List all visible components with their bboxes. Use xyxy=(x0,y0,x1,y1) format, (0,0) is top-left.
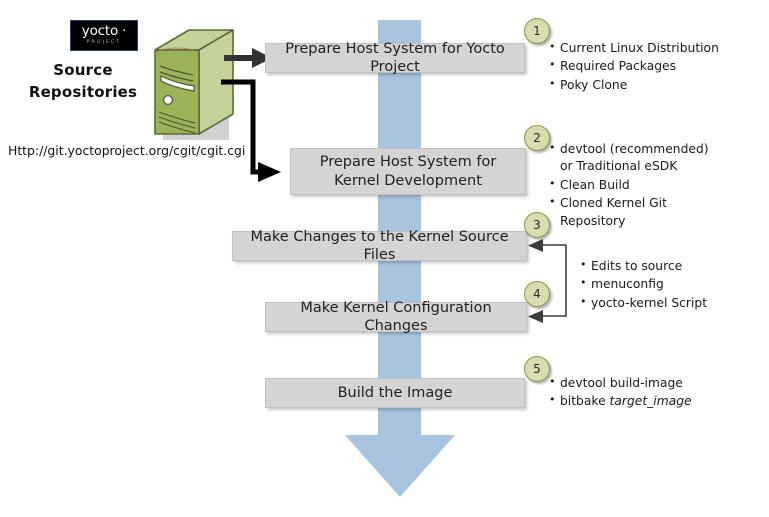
step-3-badge: 3 xyxy=(524,212,550,238)
list-item: Current Linux Distribution xyxy=(549,40,754,57)
list-item: Poky Clone xyxy=(549,77,754,94)
step-5-badge: 5 xyxy=(524,356,550,382)
step-1-box[interactable]: Prepare Host System for Yocto Project xyxy=(265,43,525,73)
list-item: devtool (recommended) or Traditional eSD… xyxy=(549,141,724,176)
step-2-number: 2 xyxy=(533,131,541,145)
step-1-title: Prepare Host System for Yocto Project xyxy=(274,40,516,76)
step-2-title: Prepare Host System for Kernel Developme… xyxy=(299,153,517,189)
steps-3-4-shared-bullets: Edits to source menuconfig yocto-kernel … xyxy=(580,258,745,313)
step-2-box[interactable]: Prepare Host System for Kernel Developme… xyxy=(290,148,526,195)
list-item: Required Packages xyxy=(549,58,754,75)
list-item: Clean Build xyxy=(549,177,724,194)
yocto-kernel-workflow-diagram: yocto · PROJECT Source Repositories Http… xyxy=(0,0,769,517)
step-3-box[interactable]: Make Changes to the Kernel Source Files xyxy=(232,231,527,261)
list-item: menuconfig xyxy=(580,276,745,293)
step-4-number: 4 xyxy=(533,287,541,301)
list-item: yocto-kernel Script xyxy=(580,295,745,312)
step-5-bullets: devtool build-image bitbake target_image xyxy=(549,375,739,412)
step-4-badge: 4 xyxy=(524,281,550,307)
list-item: Cloned Kernel Git Repository xyxy=(549,195,724,230)
step-2-bullets: devtool (recommended) or Traditional eSD… xyxy=(549,141,724,231)
step-1-number: 1 xyxy=(533,24,541,38)
step-3-number: 3 xyxy=(533,218,541,232)
bitbake-target-placeholder: target_image xyxy=(610,394,692,408)
list-item: bitbake target_image xyxy=(549,393,739,410)
step-1-bullets: Current Linux Distribution Required Pack… xyxy=(549,40,754,95)
step-3-title: Make Changes to the Kernel Source Files xyxy=(241,228,518,264)
step-5-box[interactable]: Build the Image xyxy=(265,378,525,408)
step-4-title: Make Kernel Configuration Changes xyxy=(274,299,518,335)
bitbake-command: bitbake xyxy=(560,394,610,408)
step-5-number: 5 xyxy=(533,362,541,376)
step-1-badge: 1 xyxy=(524,18,550,44)
list-item: Edits to source xyxy=(580,258,745,275)
step-5-title: Build the Image xyxy=(338,384,453,402)
list-item: devtool build-image xyxy=(549,375,739,392)
step-2-badge: 2 xyxy=(524,125,550,151)
step-4-box[interactable]: Make Kernel Configuration Changes xyxy=(265,302,527,332)
